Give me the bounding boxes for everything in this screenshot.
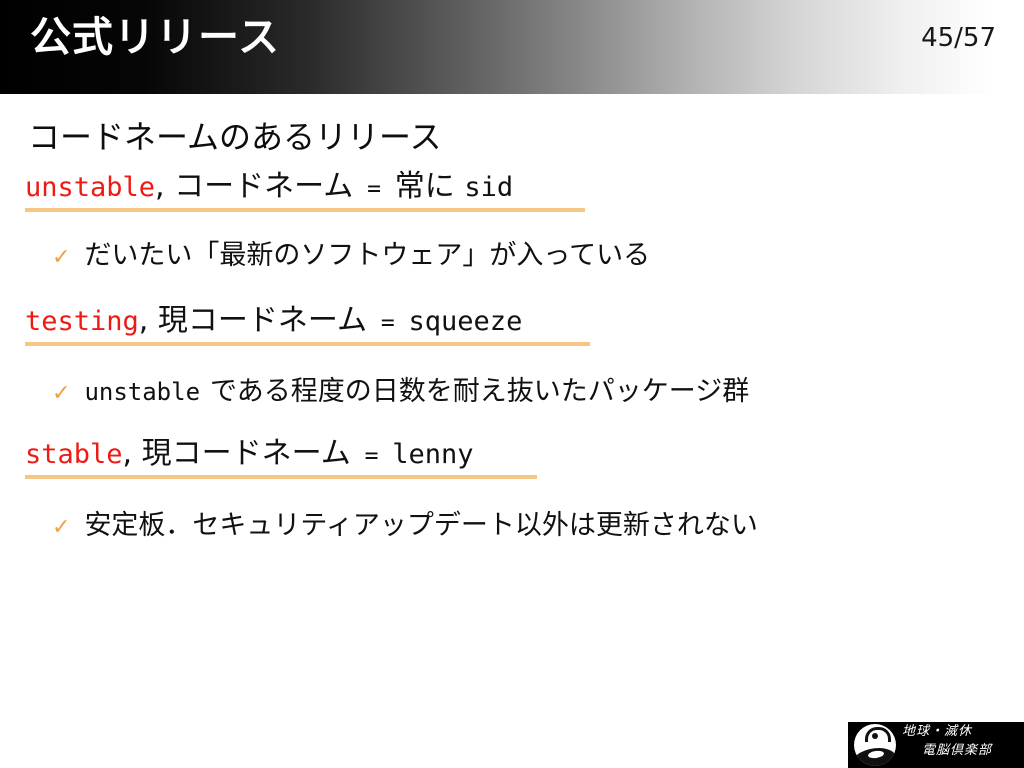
equals-sign: =	[353, 176, 395, 202]
code-testing: testing	[25, 306, 139, 337]
check-icon: ✓	[52, 517, 70, 539]
slide-header: 公式リリース 45/57	[0, 0, 1024, 94]
underline-rule	[25, 342, 590, 346]
code-unstable: unstable	[25, 172, 155, 203]
logo-arc-shape	[865, 727, 891, 742]
sub-item-testing-text: である程度の日数を耐え抜いたパッケージ群	[200, 378, 749, 405]
value-jp-always: 常に	[395, 169, 465, 204]
code-squeeze: squeeze	[409, 306, 523, 337]
underline-rule	[25, 475, 537, 479]
check-icon: ✓	[52, 383, 70, 405]
release-item-testing-text: testing, 現コードネーム = squeeze	[25, 306, 590, 338]
separator-comma: ,	[155, 169, 174, 204]
separator-comma: ,	[123, 436, 142, 471]
release-item-stable-text: stable, 現コードネーム = lenny	[25, 439, 537, 471]
equals-sign: =	[351, 443, 393, 469]
release-item-stable: stable, 現コードネーム = lenny	[25, 439, 537, 479]
sub-item-stable-text: 安定板．セキュリティアップデート以外は更新されない	[84, 512, 757, 539]
logo-wordmark-line1: 地球・滅休	[900, 723, 1022, 742]
logo-emblem-icon	[854, 724, 896, 766]
code-lenny: lenny	[392, 439, 473, 470]
release-item-testing: testing, 現コードネーム = squeeze	[25, 306, 590, 346]
sub-item-unstable-text: だいたい「最新のソフトウェア」が入っている	[84, 242, 650, 269]
label-current-codename: 現コードネーム	[158, 303, 367, 338]
code-stable: stable	[25, 439, 123, 470]
release-item-unstable-text: unstable, コードネーム = 常に sid	[25, 172, 585, 204]
label-codename: コードネーム	[174, 169, 353, 204]
footer-logo: 地球・滅休 電脳倶楽部	[848, 722, 1024, 768]
logo-wordmark-line2: 電脳倶楽部	[900, 742, 1022, 761]
release-item-unstable: unstable, コードネーム = 常に sid	[25, 172, 585, 212]
logo-dot-shape	[872, 733, 878, 739]
sub-code-unstable: unstable	[84, 378, 200, 406]
label-current-codename: 現コードネーム	[142, 436, 351, 471]
page-number: 45/57	[921, 23, 996, 53]
sub-item-stable: ✓ 安定板．セキュリティアップデート以外は更新されない	[52, 512, 758, 539]
section-heading: コードネームのあるリリース	[28, 112, 441, 158]
separator-comma: ,	[139, 303, 158, 338]
check-icon: ✓	[52, 247, 70, 269]
sub-item-testing: ✓ unstable である程度の日数を耐え抜いたパッケージ群	[52, 378, 749, 406]
slide-content: コードネームのあるリリース unstable, コードネーム = 常に sid …	[0, 94, 1024, 768]
slide-title: 公式リリース	[30, 15, 280, 60]
sub-item-unstable: ✓ だいたい「最新のソフトウェア」が入っている	[52, 242, 650, 269]
equals-sign: =	[367, 310, 409, 336]
logo-wordmark: 地球・滅休 電脳倶楽部	[900, 723, 1022, 767]
underline-rule	[25, 208, 585, 212]
code-sid: sid	[464, 172, 513, 203]
